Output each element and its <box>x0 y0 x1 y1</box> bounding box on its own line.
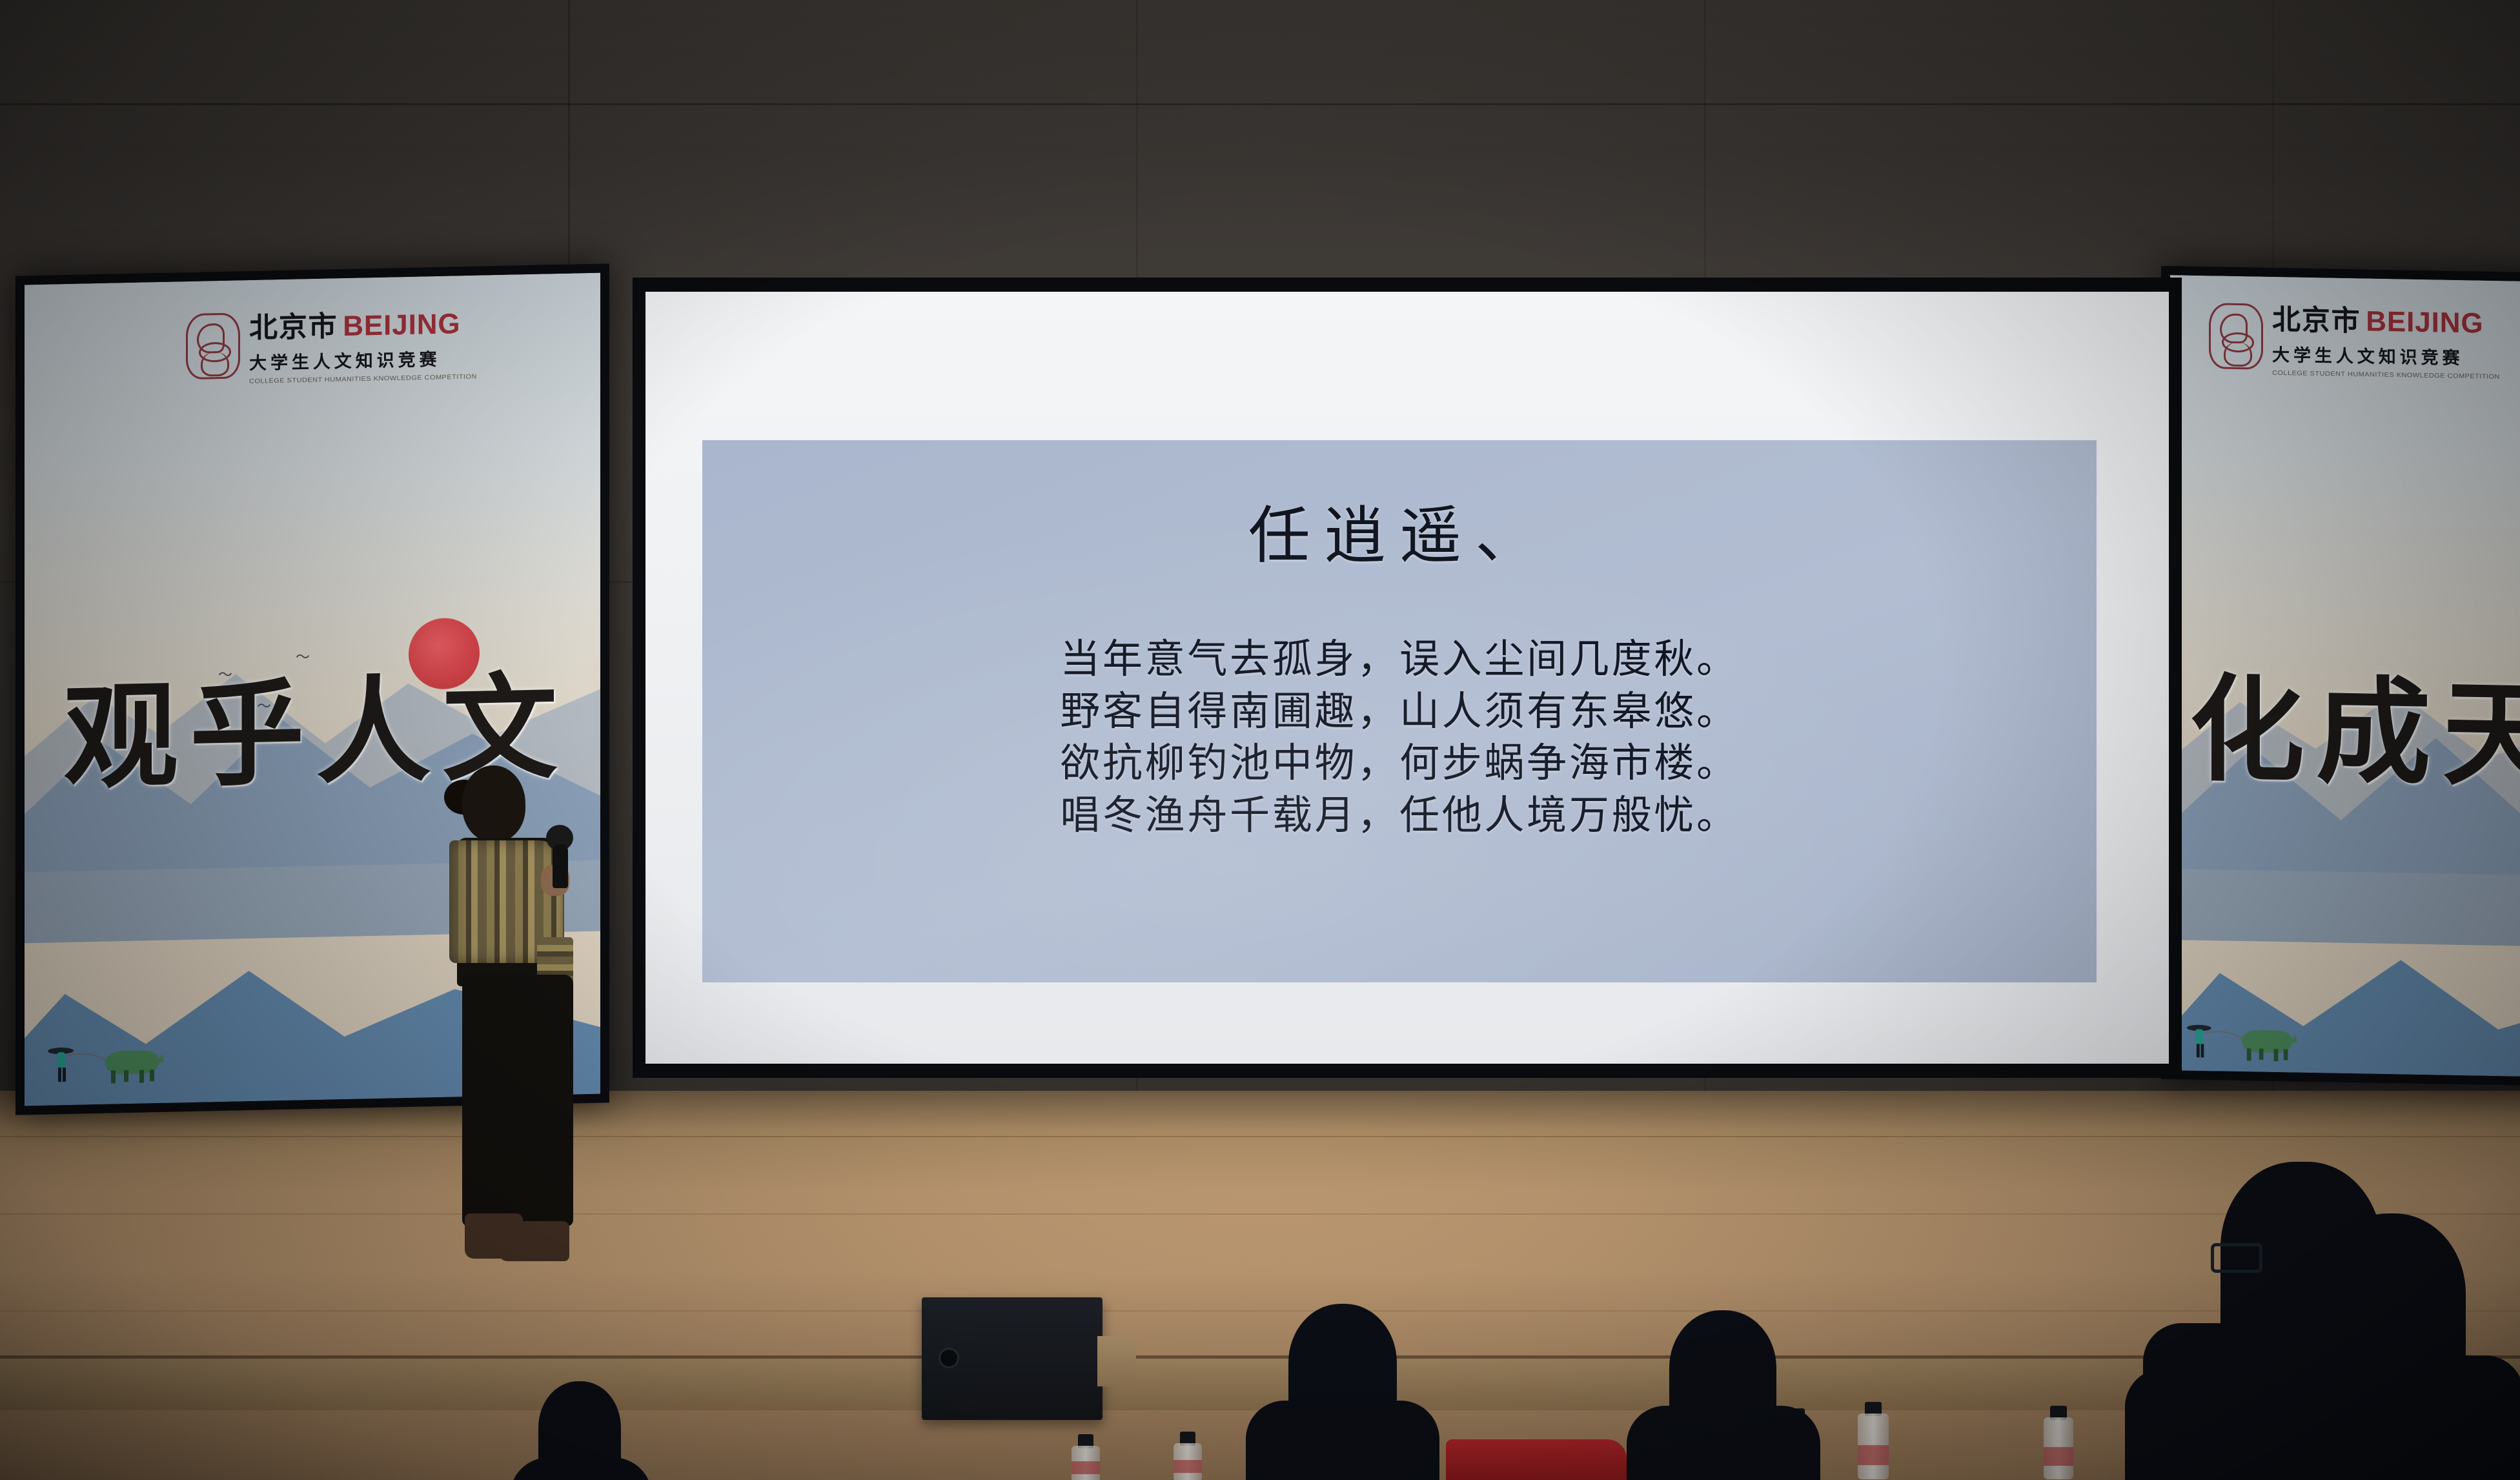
auditorium-scene: 〜 〜 〜 观乎人文 <box>0 0 2520 1480</box>
audience-member-center-left <box>1246 1304 1439 1480</box>
seal-emblem-icon <box>186 312 240 380</box>
logo-city-en: BEIJING <box>2366 305 2483 340</box>
water-bottle <box>1072 1434 1100 1480</box>
presenter <box>426 762 620 1278</box>
presenter-skirt <box>462 975 573 1226</box>
logo-city-en: BEIJING <box>343 308 460 343</box>
event-logo-lockup: 北京市 BEIJING 大学生人文知识竞赛 COLLEGE STUDENT HU… <box>2209 295 2500 381</box>
presenter-boot <box>498 1221 569 1261</box>
wall-seam <box>0 103 2520 105</box>
poem-line: 唱冬渔舟千载月，任他人境万般忧。 <box>702 790 2097 842</box>
floor-plank-line <box>0 1136 2520 1137</box>
ceiling-light-glow <box>0 0 2520 148</box>
event-logo-lockup: 北京市 BEIJING 大学生人文知识竞赛 COLLEGE STUDENT HU… <box>186 300 477 387</box>
audience-member-right <box>2240 1213 2520 1480</box>
presentation-slide: 任逍遥、 当年意气去孤身，误入尘间几度秋。 野客自得南圃趣，山人须有东皋悠。 欲… <box>702 440 2097 982</box>
speaker-driver-icon <box>939 1348 959 1368</box>
water-bottle <box>1858 1402 1889 1479</box>
poem-line: 当年意气去孤身，误入尘间几度秋。 <box>702 634 2097 686</box>
poem-body: 当年意气去孤身，误入尘间几度秋。 野客自得南圃趣，山人须有东皋悠。 欲抗柳钓池中… <box>702 634 2097 842</box>
water-bottle <box>2044 1406 2073 1479</box>
audience-member-center-right <box>1627 1310 1820 1480</box>
presenter-head <box>462 765 525 842</box>
logo-city-cn: 北京市 <box>2272 296 2361 339</box>
seal-emblem-icon <box>2209 303 2263 369</box>
poem-line: 欲抗柳钓池中物，何步蜗争海市楼。 <box>702 738 2097 790</box>
right-banner-calligraphy: 化成天 <box>2190 637 2520 809</box>
red-table-banner <box>1446 1439 1627 1480</box>
wooden-block <box>1097 1336 1136 1386</box>
right-led-banner: 化成天 <box>2161 266 2520 1087</box>
logo-city-cn: 北京市 <box>249 303 338 346</box>
handheld-microphone <box>553 844 568 888</box>
smartphone-camera-icon <box>2195 1343 2246 1420</box>
water-bottle <box>1174 1432 1202 1480</box>
stage-monitor-speaker <box>922 1297 1102 1420</box>
farmer-with-ox-figure <box>2183 1008 2306 1068</box>
logo-event-cn: 大学生人文知识竞赛 <box>249 345 477 374</box>
logo-event-cn: 大学生人文知识竞赛 <box>2272 341 2500 370</box>
farmer-with-ox-figure <box>44 1029 173 1090</box>
poem-line: 野客自得南圃趣，山人须有东皋悠。 <box>702 686 2097 738</box>
audience-member-left <box>510 1381 652 1480</box>
poem-title: 任逍遥、 <box>702 485 2097 575</box>
